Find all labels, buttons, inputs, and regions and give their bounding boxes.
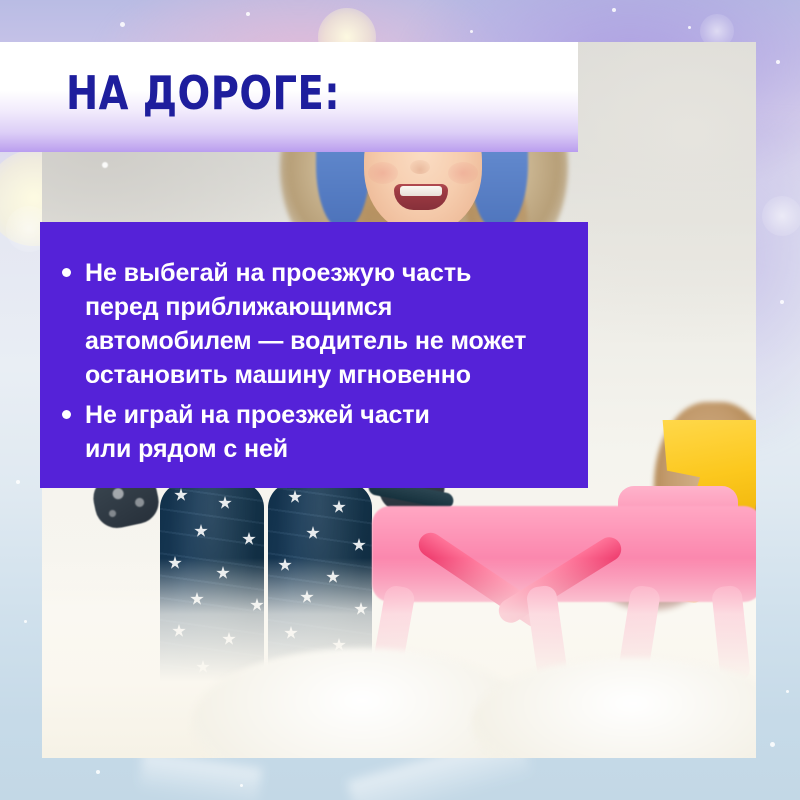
bullet-list: Не выбегай на проезжую часть перед прибл…: [40, 222, 588, 466]
background-light-streak: [138, 752, 262, 800]
bullet-text: Не играй на проезжей части или рядом с н…: [85, 398, 430, 466]
nose: [410, 160, 430, 174]
snow-flake: [786, 690, 789, 693]
bullet-dot-icon: [62, 410, 71, 419]
list-item: Не выбегай на проезжую часть перед прибл…: [62, 256, 570, 392]
snow-flake: [770, 742, 775, 747]
snow-flake: [240, 784, 243, 787]
snow-flake: [16, 480, 20, 484]
content-panel: Не выбегай на проезжую часть перед прибл…: [40, 222, 588, 488]
bullet-dot-icon: [62, 268, 71, 277]
snow-flake: [96, 770, 100, 774]
page-title: НА ДОРОГЕ:: [66, 66, 340, 120]
bullet-text: Не выбегай на проезжую часть перед прибл…: [85, 256, 526, 392]
snow-flake: [24, 620, 27, 623]
smiling-mouth: [394, 184, 448, 210]
cheek-left: [368, 162, 398, 184]
cheek-right: [448, 162, 478, 184]
falling-snow-dot: [102, 162, 108, 168]
list-item: Не играй на проезжей части или рядом с н…: [62, 398, 570, 466]
teeth: [400, 186, 442, 196]
slide-canvas: НА ДОРОГЕ: Не выбегай на проезжую часть …: [0, 0, 800, 800]
